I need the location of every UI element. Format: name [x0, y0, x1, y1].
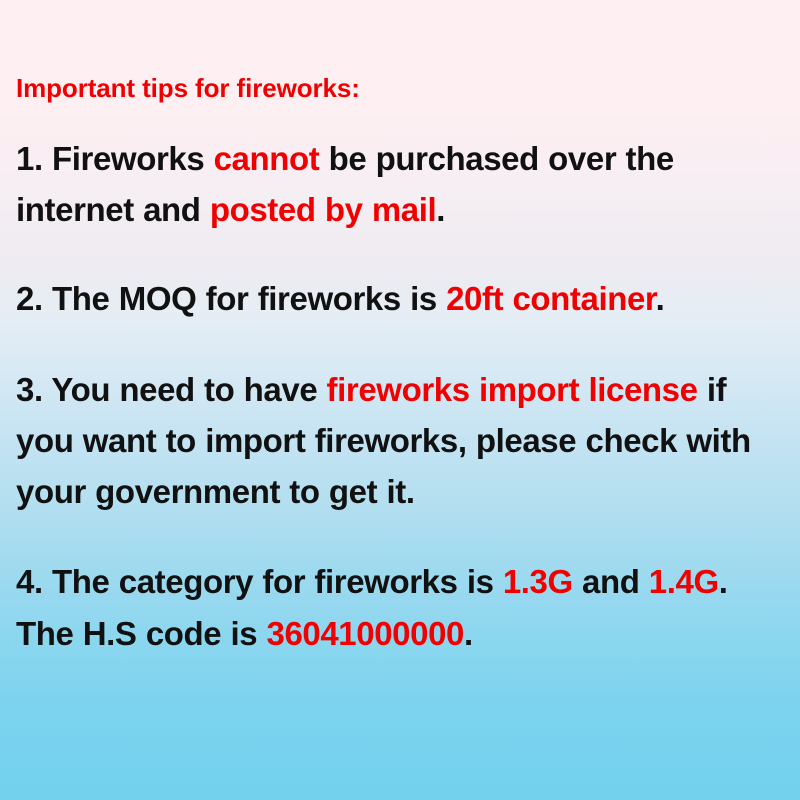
fireworks-tips-poster: Important tips for fireworks: 1. Firewor… [0, 0, 800, 800]
tip-number: 3. [16, 371, 43, 408]
tip-highlight-segment: 1.3G [503, 563, 573, 600]
tip-text-segment: and [573, 563, 649, 600]
tip-number: 4. [16, 563, 43, 600]
tip-item-3: 3. You need to have fireworks import lic… [16, 324, 784, 517]
tip-highlight-segment: 36041000000 [267, 615, 464, 652]
page-title: Important tips for fireworks: [16, 0, 784, 103]
poster-content: Important tips for fireworks: 1. Firewor… [16, 0, 784, 659]
tip-item-1: 1. Fireworks cannot be purchased over th… [16, 103, 784, 235]
tip-text-segment: The category for fireworks is [43, 563, 503, 600]
tip-text-segment: . [656, 280, 665, 317]
tip-text-segment: You need to have [43, 371, 327, 408]
tip-text-segment: Fireworks [43, 140, 214, 177]
tip-text-segment: . [464, 615, 473, 652]
tip-item-4: 4. The category for fireworks is 1.3G an… [16, 517, 784, 658]
tip-number: 1. [16, 140, 43, 177]
tip-number: 2. [16, 280, 43, 317]
tip-highlight-segment: posted by mail [210, 191, 436, 228]
tip-text-segment: The MOQ for fireworks is [43, 280, 446, 317]
tip-highlight-segment: cannot [214, 140, 320, 177]
tip-highlight-segment: 20ft container [446, 280, 655, 317]
tip-item-2: 2. The MOQ for fireworks is 20ft contain… [16, 235, 784, 324]
tip-highlight-segment: fireworks import license [327, 371, 698, 408]
tip-highlight-segment: 1.4G [649, 563, 719, 600]
tip-text-segment: . [436, 191, 445, 228]
